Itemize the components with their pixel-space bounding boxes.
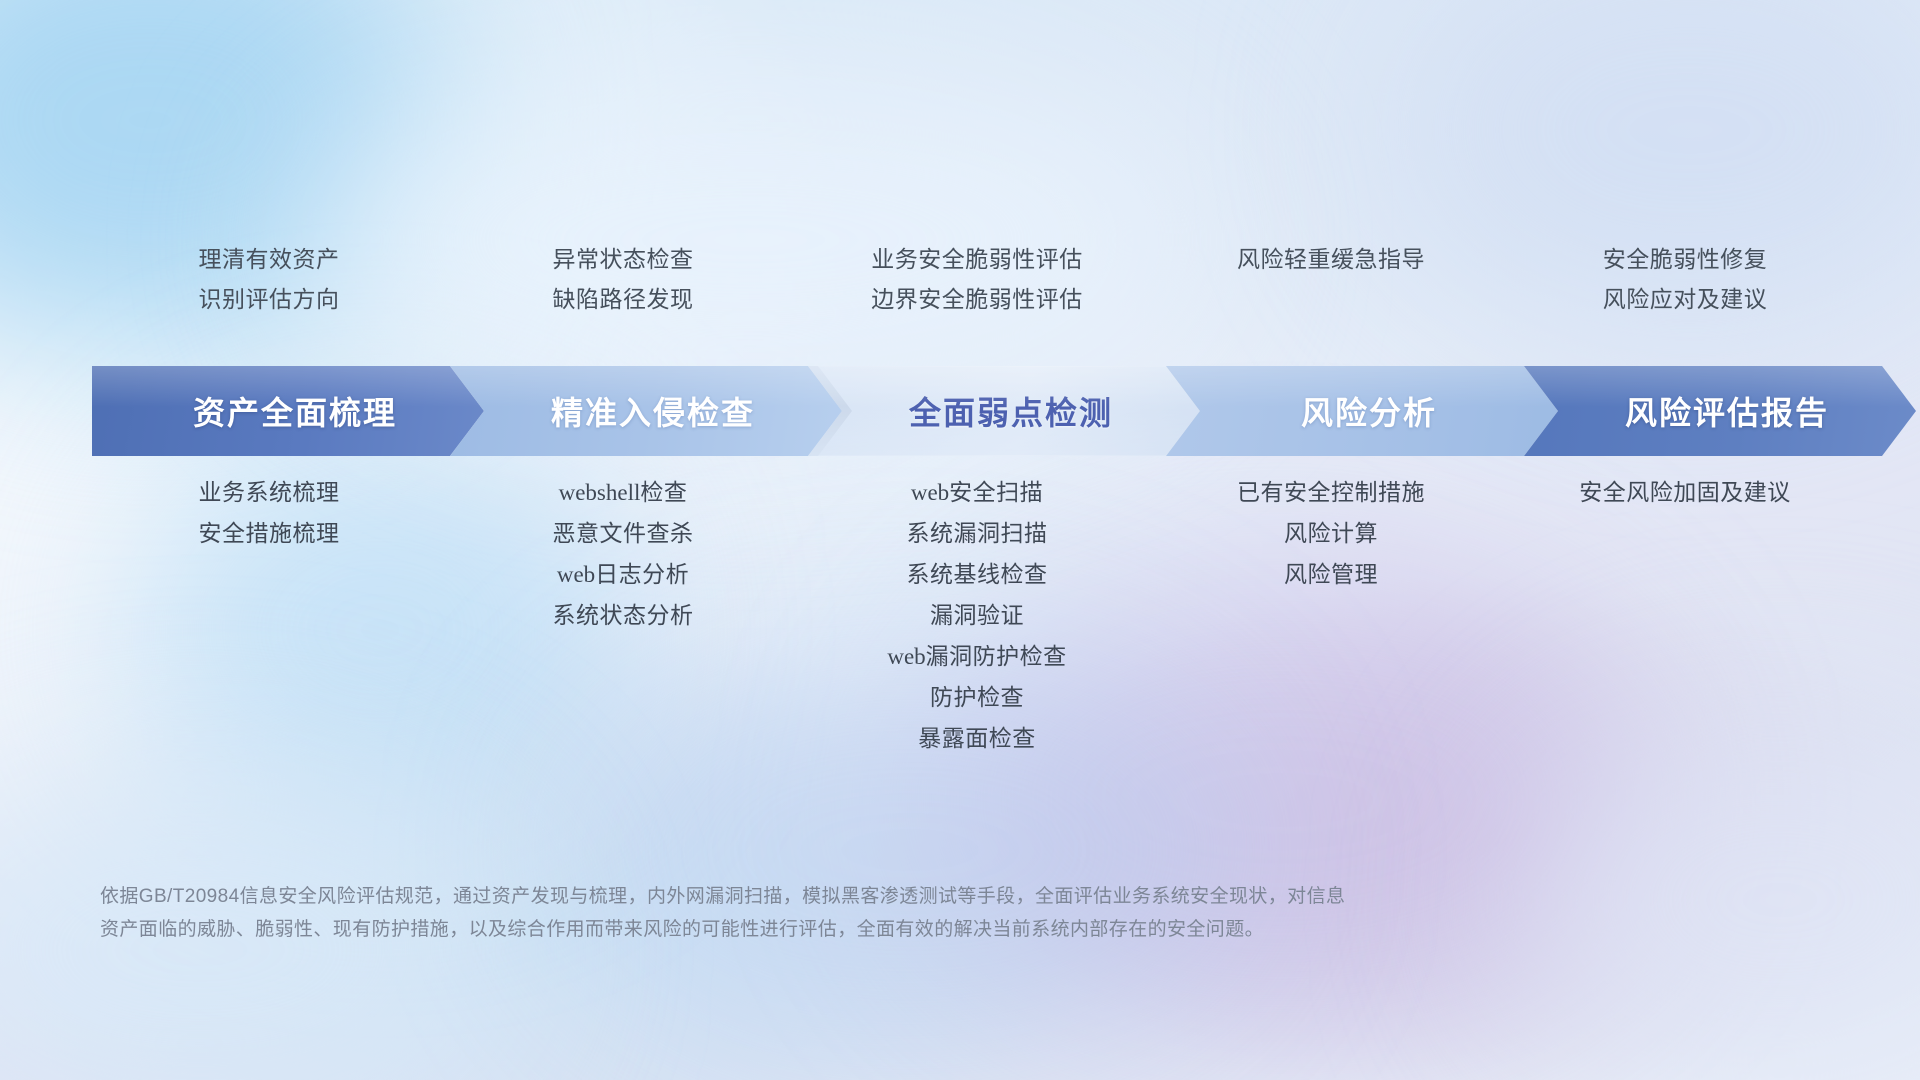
stage-arrow-label: 精准入侵检查 — [537, 388, 755, 434]
list-item: 风险管理 — [1154, 554, 1508, 595]
stage-arrow-label: 风险评估报告 — [1611, 388, 1829, 434]
stage-arrow-risk-analysis[interactable]: 风险分析 — [1166, 366, 1558, 456]
stage-arrow-risk-report[interactable]: 风险评估报告 — [1524, 366, 1916, 456]
top-label-group: 风险轻重缓急指导 — [1154, 240, 1508, 280]
list-item-text: 安全扫描 — [949, 479, 1043, 505]
list-item-latin: webshell — [559, 480, 641, 505]
list-item-text: 系统漏洞扫描 — [907, 520, 1048, 546]
list-item: 系统漏洞扫描 — [800, 513, 1154, 554]
list-item: 恶意文件查杀 — [446, 513, 800, 554]
top-label: 异常状态检查 — [446, 240, 800, 280]
list-item-text: 业务系统梳理 — [199, 479, 340, 505]
list-item: 业务系统梳理 — [92, 472, 446, 513]
list-item: 已有安全控制措施 — [1154, 472, 1508, 513]
list-item: 安全措施梳理 — [92, 513, 446, 554]
list-item-text: 暴露面检查 — [918, 725, 1036, 751]
stage-arrow-label: 风险分析 — [1287, 388, 1437, 434]
top-label-group: 异常状态检查 缺陷路径发现 — [446, 240, 800, 319]
list-item-text: 恶意文件查杀 — [553, 520, 694, 546]
stage-arrow-label: 资产全面梳理 — [179, 388, 397, 434]
footer-line: 资产面临的威胁、脆弱性、现有防护措施，以及综合作用而带来风险的可能性进行评估，全… — [100, 913, 1600, 946]
list-item: web安全扫描 — [800, 472, 1154, 513]
list-item-text: 系统状态分析 — [553, 602, 694, 628]
top-label: 安全脆弱性修复 — [1508, 240, 1862, 280]
list-item-latin: web — [911, 480, 949, 505]
top-label: 风险轻重缓急指导 — [1154, 240, 1508, 280]
top-label: 风险应对及建议 — [1508, 280, 1862, 320]
top-label: 缺陷路径发现 — [446, 280, 800, 320]
list-item: 安全风险加固及建议 — [1508, 472, 1862, 513]
list-item-text: 风险管理 — [1284, 561, 1378, 587]
process-arrow-band: 资产全面梳理 精准入侵检查 全面弱点检测 风险分析 风险评估报告 — [92, 366, 1862, 456]
stage-arrow-label: 全面弱点检测 — [895, 388, 1113, 434]
list-item: 系统基线检查 — [800, 554, 1154, 595]
top-label: 边界安全脆弱性评估 — [800, 280, 1154, 320]
list-item-text: 安全风险加固及建议 — [1579, 479, 1791, 505]
slide-canvas: 理清有效资产 识别评估方向 业务系统梳理 安全措施梳理 异常状态检查 缺陷路径发… — [0, 0, 1920, 1080]
stage-arrow-intrusion-check[interactable]: 精准入侵检查 — [450, 366, 842, 456]
list-item: web日志分析 — [446, 554, 800, 595]
list-item-text: 风险计算 — [1284, 520, 1378, 546]
top-label: 业务安全脆弱性评估 — [800, 240, 1154, 280]
footer-description: 依据GB/T20984信息安全风险评估规范，通过资产发现与梳理，内外网漏洞扫描，… — [100, 880, 1600, 947]
list-item: 防护检查 — [800, 677, 1154, 718]
detail-list: webshell检查 恶意文件查杀 web日志分析 系统状态分析 — [446, 472, 800, 636]
list-item-text: 安全措施梳理 — [199, 520, 340, 546]
slide-content: 理清有效资产 识别评估方向 业务系统梳理 安全措施梳理 异常状态检查 缺陷路径发… — [0, 0, 1920, 1080]
detail-list: 安全风险加固及建议 — [1508, 472, 1862, 513]
detail-list: 已有安全控制措施 风险计算 风险管理 — [1154, 472, 1508, 595]
list-item: web漏洞防护检查 — [800, 636, 1154, 677]
list-item: 暴露面检查 — [800, 718, 1154, 759]
detail-list: 业务系统梳理 安全措施梳理 — [92, 472, 446, 554]
top-label-group: 业务安全脆弱性评估 边界安全脆弱性评估 — [800, 240, 1154, 319]
top-label: 识别评估方向 — [92, 280, 446, 320]
stage-arrow-weakness-detection[interactable]: 全面弱点检测 — [808, 366, 1200, 456]
list-item-text: 系统基线检查 — [907, 561, 1048, 587]
top-label-group: 安全脆弱性修复 风险应对及建议 — [1508, 240, 1862, 319]
footer-line: 依据GB/T20984信息安全风险评估规范，通过资产发现与梳理，内外网漏洞扫描，… — [100, 880, 1600, 913]
list-item: 系统状态分析 — [446, 595, 800, 636]
list-item-text: 漏洞防护检查 — [926, 643, 1067, 669]
list-item: 风险计算 — [1154, 513, 1508, 554]
list-item-text: 防护检查 — [930, 684, 1024, 710]
list-item-latin: web — [557, 562, 595, 587]
list-item-text: 日志分析 — [595, 561, 689, 587]
top-label-group: 理清有效资产 识别评估方向 — [92, 240, 446, 319]
detail-list: web安全扫描 系统漏洞扫描 系统基线检查 漏洞验证 web漏洞防护检查 防护检… — [800, 472, 1154, 759]
stage-arrow-asset-inventory[interactable]: 资产全面梳理 — [92, 366, 484, 456]
list-item: 漏洞验证 — [800, 595, 1154, 636]
top-label: 理清有效资产 — [92, 240, 446, 280]
list-item-text: 已有安全控制措施 — [1237, 479, 1425, 505]
list-item: webshell检查 — [446, 472, 800, 513]
list-item-text: 漏洞验证 — [930, 602, 1024, 628]
list-item-text: 检查 — [640, 479, 687, 505]
list-item-latin: web — [887, 644, 925, 669]
